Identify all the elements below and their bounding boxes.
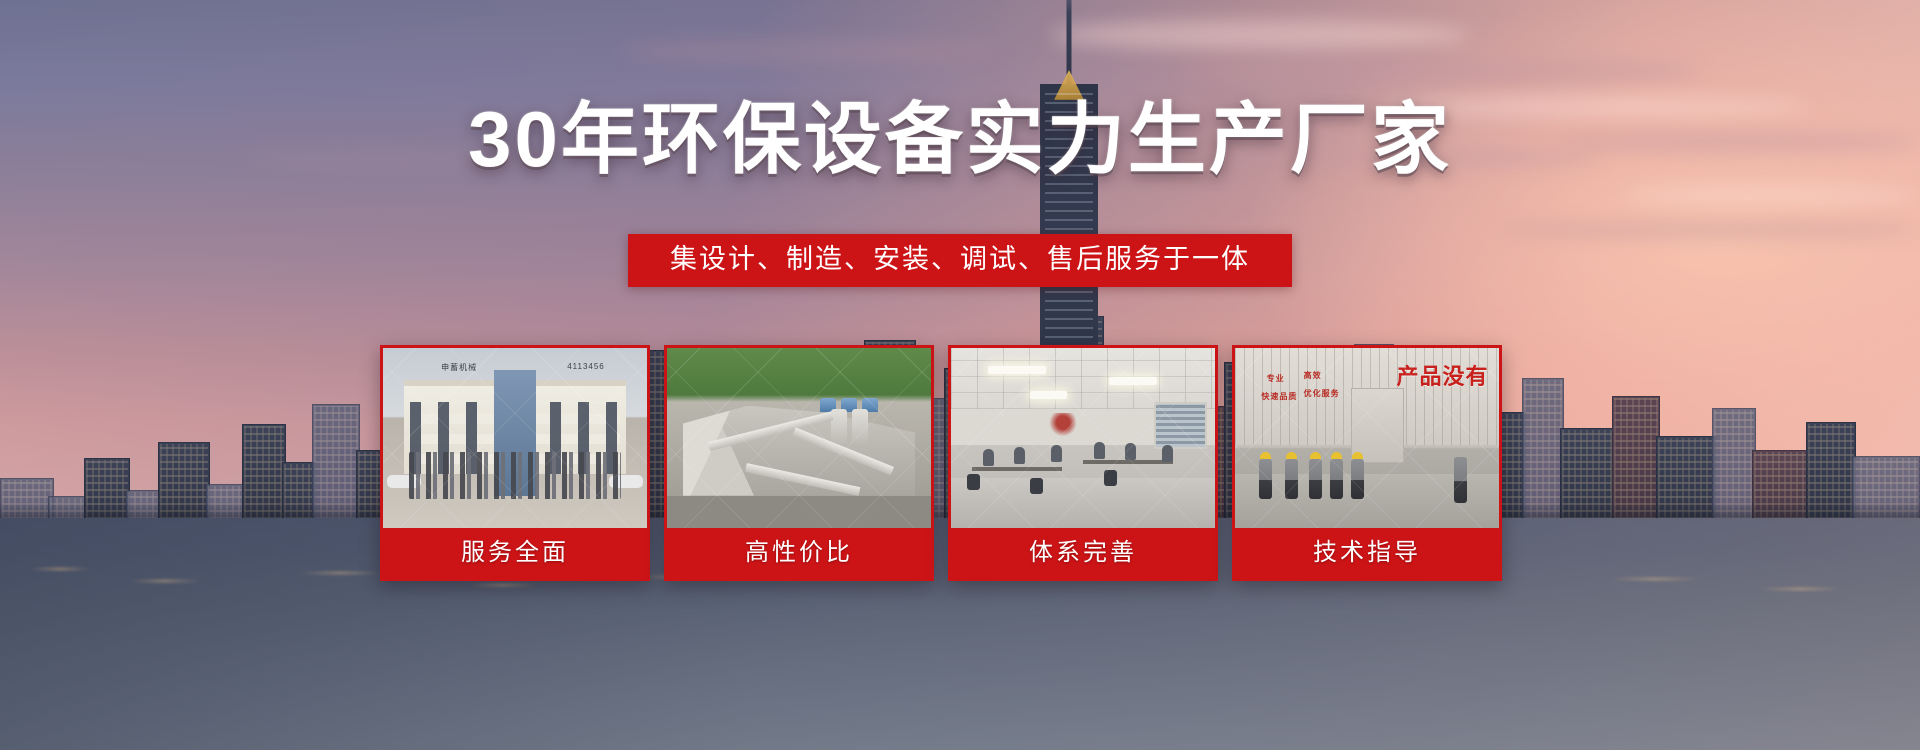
workshop-wall-slogan-2: 高效: [1304, 370, 1322, 381]
page-title: 30年环保设备实力生产厂家: [0, 100, 1920, 178]
card-label-service: 服务全面: [383, 528, 647, 578]
building-phone-text: 4113456: [567, 362, 605, 371]
card-label-training: 技术指导: [1235, 528, 1499, 578]
subtitle-row: 集设计、制造、安装、调试、售后服务于一体: [0, 234, 1920, 287]
card-label-system: 体系完善: [951, 528, 1215, 578]
hero-banner: 30年环保设备实力生产厂家 集设计、制造、安装、调试、售后服务于一体 申蓄机械 …: [0, 0, 1920, 750]
subtitle-badge: 集设计、制造、安装、调试、售后服务于一体: [628, 234, 1292, 287]
feature-card-list: 申蓄机械 4113456 服务全面: [380, 345, 1502, 581]
building-logo-text: 申蓄机械: [441, 362, 477, 373]
card-image-plant: [667, 348, 931, 528]
card-image-workshop: 产品没有 专业 高效 快速品质 优化服务: [1235, 348, 1499, 528]
workshop-wall-headline: 产品没有: [1396, 359, 1488, 391]
card-image-office: [951, 348, 1215, 528]
feature-card-system[interactable]: 体系完善: [948, 345, 1218, 581]
workshop-wall-slogan-1: 专业: [1267, 373, 1285, 384]
card-label-value: 高性价比: [667, 528, 931, 578]
card-image-headquarters: 申蓄机械 4113456: [383, 348, 647, 528]
workshop-wall-slogan-4: 优化服务: [1304, 388, 1340, 399]
feature-card-training[interactable]: 产品没有 专业 高效 快速品质 优化服务 技术指导: [1232, 345, 1502, 581]
workshop-wall-slogan-3: 快速品质: [1261, 391, 1297, 402]
feature-card-value[interactable]: 高性价比: [664, 345, 934, 581]
feature-card-service[interactable]: 申蓄机械 4113456 服务全面: [380, 345, 650, 581]
